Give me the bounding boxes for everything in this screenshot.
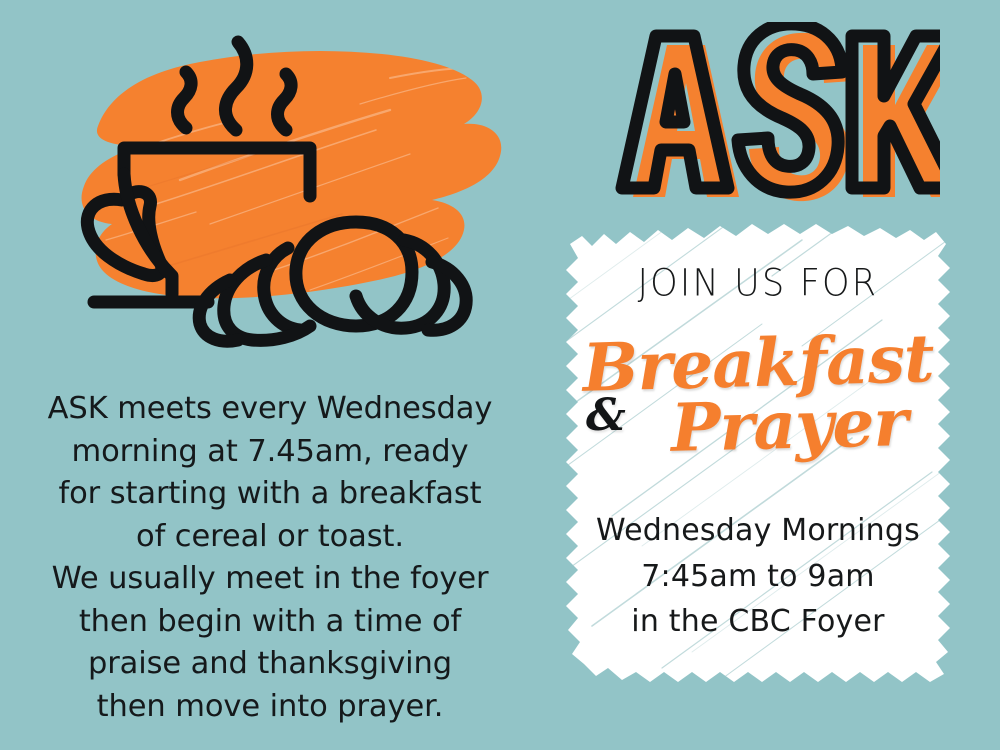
card-detail-line: Wednesday Mornings: [552, 508, 964, 554]
card-title-ampersand: &: [586, 390, 626, 441]
card-detail-line: in the CBC Foyer: [552, 599, 964, 645]
right-column: JOIN US FOR Breakfast & Prayer Wednesday…: [540, 0, 1000, 750]
card-title-prayer: Prayer: [623, 382, 955, 468]
join-us-label: JOIN US FOR: [552, 263, 964, 305]
card-content: JOIN US FOR Breakfast & Prayer Wednesday…: [552, 216, 964, 708]
description-line: for starting with a breakfast: [24, 473, 516, 516]
coffee-croissant-illustration: [60, 18, 520, 378]
description-line: then move into prayer.: [24, 686, 516, 729]
description-paragraph: ASK meets every Wednesday morning at 7.4…: [24, 388, 516, 728]
info-card: JOIN US FOR Breakfast & Prayer Wednesday…: [552, 216, 964, 708]
card-detail-line: 7:45am to 9am: [552, 554, 964, 600]
description-line: then begin with a time of: [24, 601, 516, 644]
poster-canvas: ASK meets every Wednesday morning at 7.4…: [0, 0, 1000, 750]
description-line: morning at 7.45am, ready: [24, 431, 516, 474]
card-title-block: Breakfast & Prayer: [552, 324, 964, 490]
description-line: We usually meet in the foyer: [24, 558, 516, 601]
description-line: praise and thanksgiving: [24, 643, 516, 686]
card-details: Wednesday Mornings 7:45am to 9am in the …: [552, 508, 964, 645]
description-line: of cereal or toast.: [24, 516, 516, 559]
description-line: ASK meets every Wednesday: [24, 388, 516, 431]
left-column: ASK meets every Wednesday morning at 7.4…: [0, 0, 540, 750]
ask-logo: [610, 22, 940, 202]
